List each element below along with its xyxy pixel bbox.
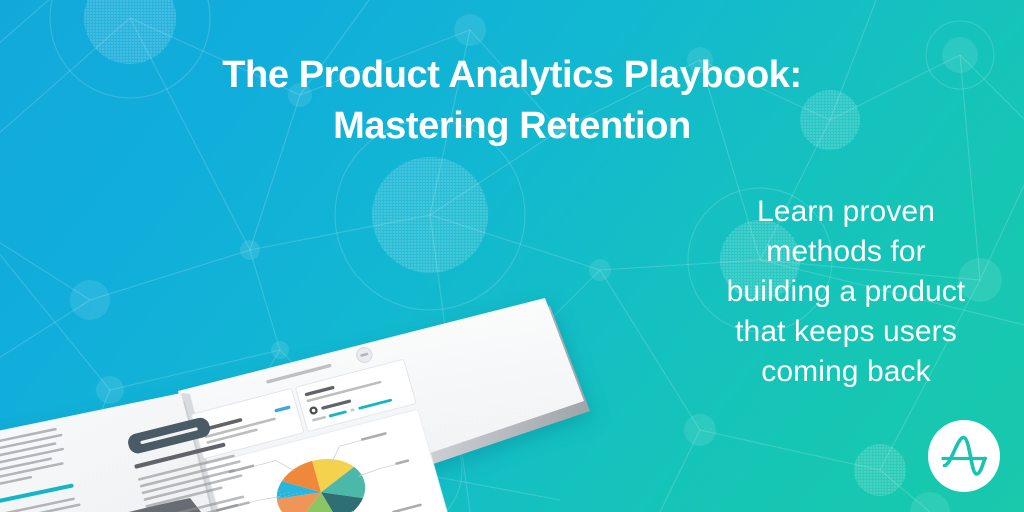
promo-banner: The Product Analytics Playbook: Masterin… xyxy=(0,0,1024,512)
subheading-line-1: Learn proven xyxy=(696,192,996,232)
subheading-copy: Learn proven methods for building a prod… xyxy=(696,192,996,391)
page-title-line-1: The Product Analytics Playbook: xyxy=(222,54,802,96)
page-title-line-2: Mastering Retention xyxy=(0,101,1024,152)
subheading-line-4: that keeps users xyxy=(696,312,996,352)
amplitude-logo-icon xyxy=(928,420,1000,492)
subheading-line-2: methods for xyxy=(696,232,996,272)
page-title: The Product Analytics Playbook: Masterin… xyxy=(0,50,1024,151)
subheading-line-3: building a product xyxy=(696,272,996,312)
amplitude-logo[interactable] xyxy=(928,420,1000,492)
subheading-line-5: coming back xyxy=(696,352,996,392)
